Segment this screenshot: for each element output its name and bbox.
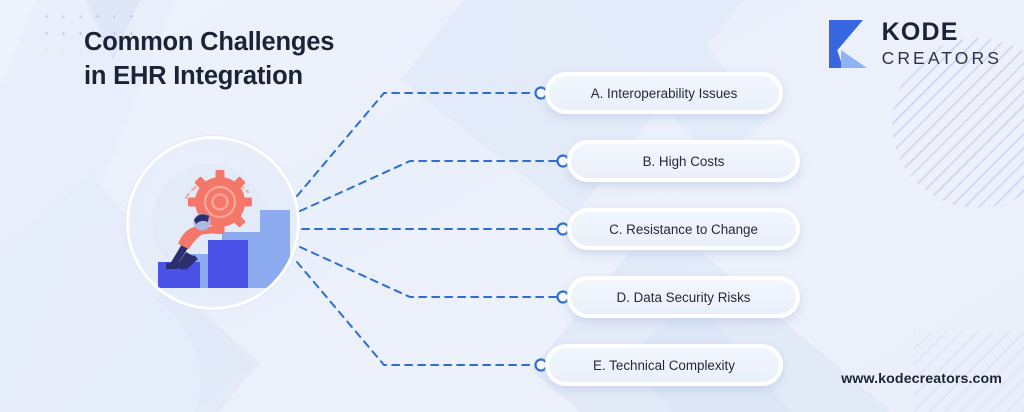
challenge-card-b[interactable]: B. High Costs	[567, 140, 800, 182]
challenge-label-a: A. Interoperability Issues	[591, 86, 738, 101]
challenge-card-c[interactable]: C. Resistance to Change	[567, 208, 800, 250]
connector-line-b	[300, 161, 557, 211]
challenge-label-e: E. Technical Complexity	[593, 358, 735, 373]
challenge-card-e[interactable]: E. Technical Complexity	[545, 344, 783, 386]
connector-line-d	[300, 247, 557, 297]
connector-line-e	[297, 262, 535, 365]
challenge-label-b: B. High Costs	[643, 154, 725, 169]
website-url[interactable]: www.kodecreators.com	[841, 371, 1002, 387]
connector-line-a	[297, 93, 535, 196]
challenge-card-a[interactable]: A. Interoperability Issues	[545, 72, 783, 114]
challenge-label-c: C. Resistance to Change	[609, 222, 758, 237]
connector-lines	[0, 0, 1024, 412]
infographic-canvas: Common Challenges in EHR Integration KOD…	[0, 0, 1024, 412]
challenge-label-d: D. Data Security Risks	[617, 290, 751, 305]
challenge-card-d[interactable]: D. Data Security Risks	[567, 276, 800, 318]
